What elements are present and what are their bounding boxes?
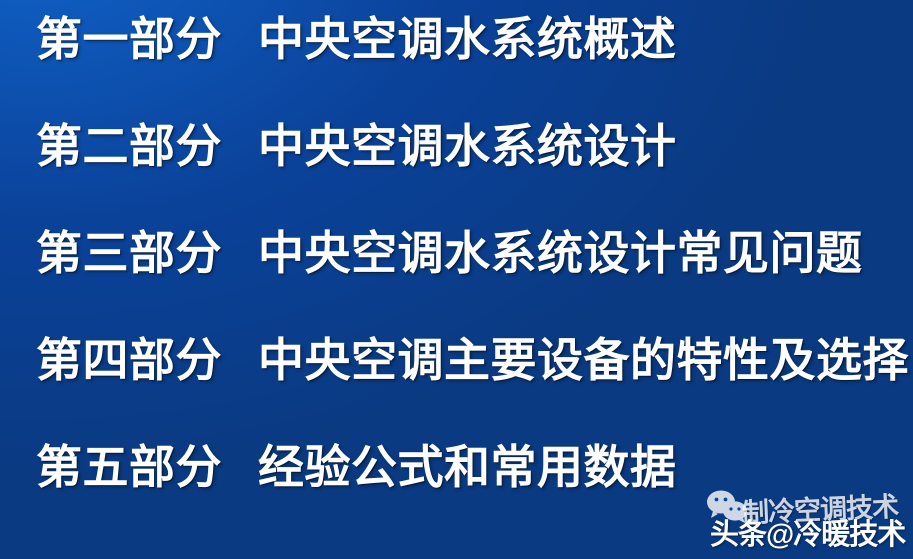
toc-title-label: 中央空调水系统概述: [258, 16, 913, 62]
toc-part-label: 第一部分: [36, 16, 258, 62]
toc-row: 第三部分 中央空调水系统设计常见问题: [0, 230, 913, 337]
toc-part-label: 第四部分: [36, 337, 258, 383]
toc-row: 第二部分 中央空调水系统设计: [0, 123, 913, 230]
toc-title-label: 经验公式和常用数据: [258, 444, 913, 490]
toc-title-label: 中央空调主要设备的特性及选择: [258, 337, 913, 383]
toc-part-label: 第五部分: [36, 444, 258, 490]
presentation-slide: 第一部分 中央空调水系统概述 第二部分 中央空调水系统设计 第三部分 中央空调水…: [0, 0, 913, 559]
table-of-contents: 第一部分 中央空调水系统概述 第二部分 中央空调水系统设计 第三部分 中央空调水…: [0, 0, 913, 559]
toc-row: 第五部分 经验公式和常用数据: [0, 444, 913, 551]
toc-title-label: 中央空调水系统设计常见问题: [258, 230, 913, 276]
toc-row: 第四部分 中央空调主要设备的特性及选择: [0, 337, 913, 444]
toc-title-label: 中央空调水系统设计: [258, 123, 913, 169]
toc-row: 第一部分 中央空调水系统概述: [0, 16, 913, 123]
toc-part-label: 第二部分: [36, 123, 258, 169]
toc-part-label: 第三部分: [36, 230, 258, 276]
